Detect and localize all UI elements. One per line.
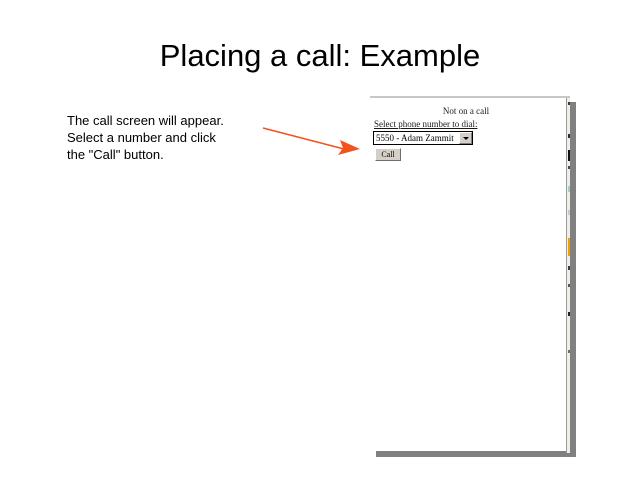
phone-number-select-value: 5550 - Adam Zammit bbox=[374, 133, 459, 143]
embedded-screenshot-panel: Not on a call Select phone number to dia… bbox=[370, 96, 570, 451]
call-button[interactable]: Call bbox=[375, 148, 401, 161]
edge-tick bbox=[568, 150, 570, 161]
dial-number-label: Select phone number to dial: bbox=[374, 119, 477, 129]
edge-tick bbox=[568, 266, 570, 270]
chevron-down-icon[interactable] bbox=[459, 132, 472, 144]
edge-tick bbox=[568, 134, 570, 138]
edge-tick bbox=[568, 350, 570, 353]
edge-tick bbox=[568, 238, 570, 256]
caption-line-2: Select a number and click bbox=[67, 129, 267, 146]
edge-tick bbox=[568, 312, 570, 316]
caption-text-block: The call screen will appear. Select a nu… bbox=[67, 112, 267, 163]
caption-line-1: The call screen will appear. bbox=[67, 112, 267, 129]
edge-tick bbox=[568, 102, 570, 105]
arrow-pointing-right-icon bbox=[262, 122, 372, 164]
annotation-arrow bbox=[262, 122, 372, 164]
edge-tick bbox=[568, 210, 570, 215]
window-scrollbar-edge[interactable] bbox=[566, 98, 570, 453]
caption-line-3: the "Call" button. bbox=[67, 146, 267, 163]
phone-number-select[interactable]: 5550 - Adam Zammit bbox=[373, 131, 473, 145]
browser-window-content: Not on a call Select phone number to dia… bbox=[370, 96, 570, 451]
edge-tick bbox=[568, 186, 570, 192]
page-title: Placing a call: Example bbox=[0, 38, 640, 74]
edge-tick bbox=[568, 284, 570, 287]
edge-tick bbox=[568, 166, 570, 169]
call-status-text: Not on a call bbox=[370, 106, 562, 116]
